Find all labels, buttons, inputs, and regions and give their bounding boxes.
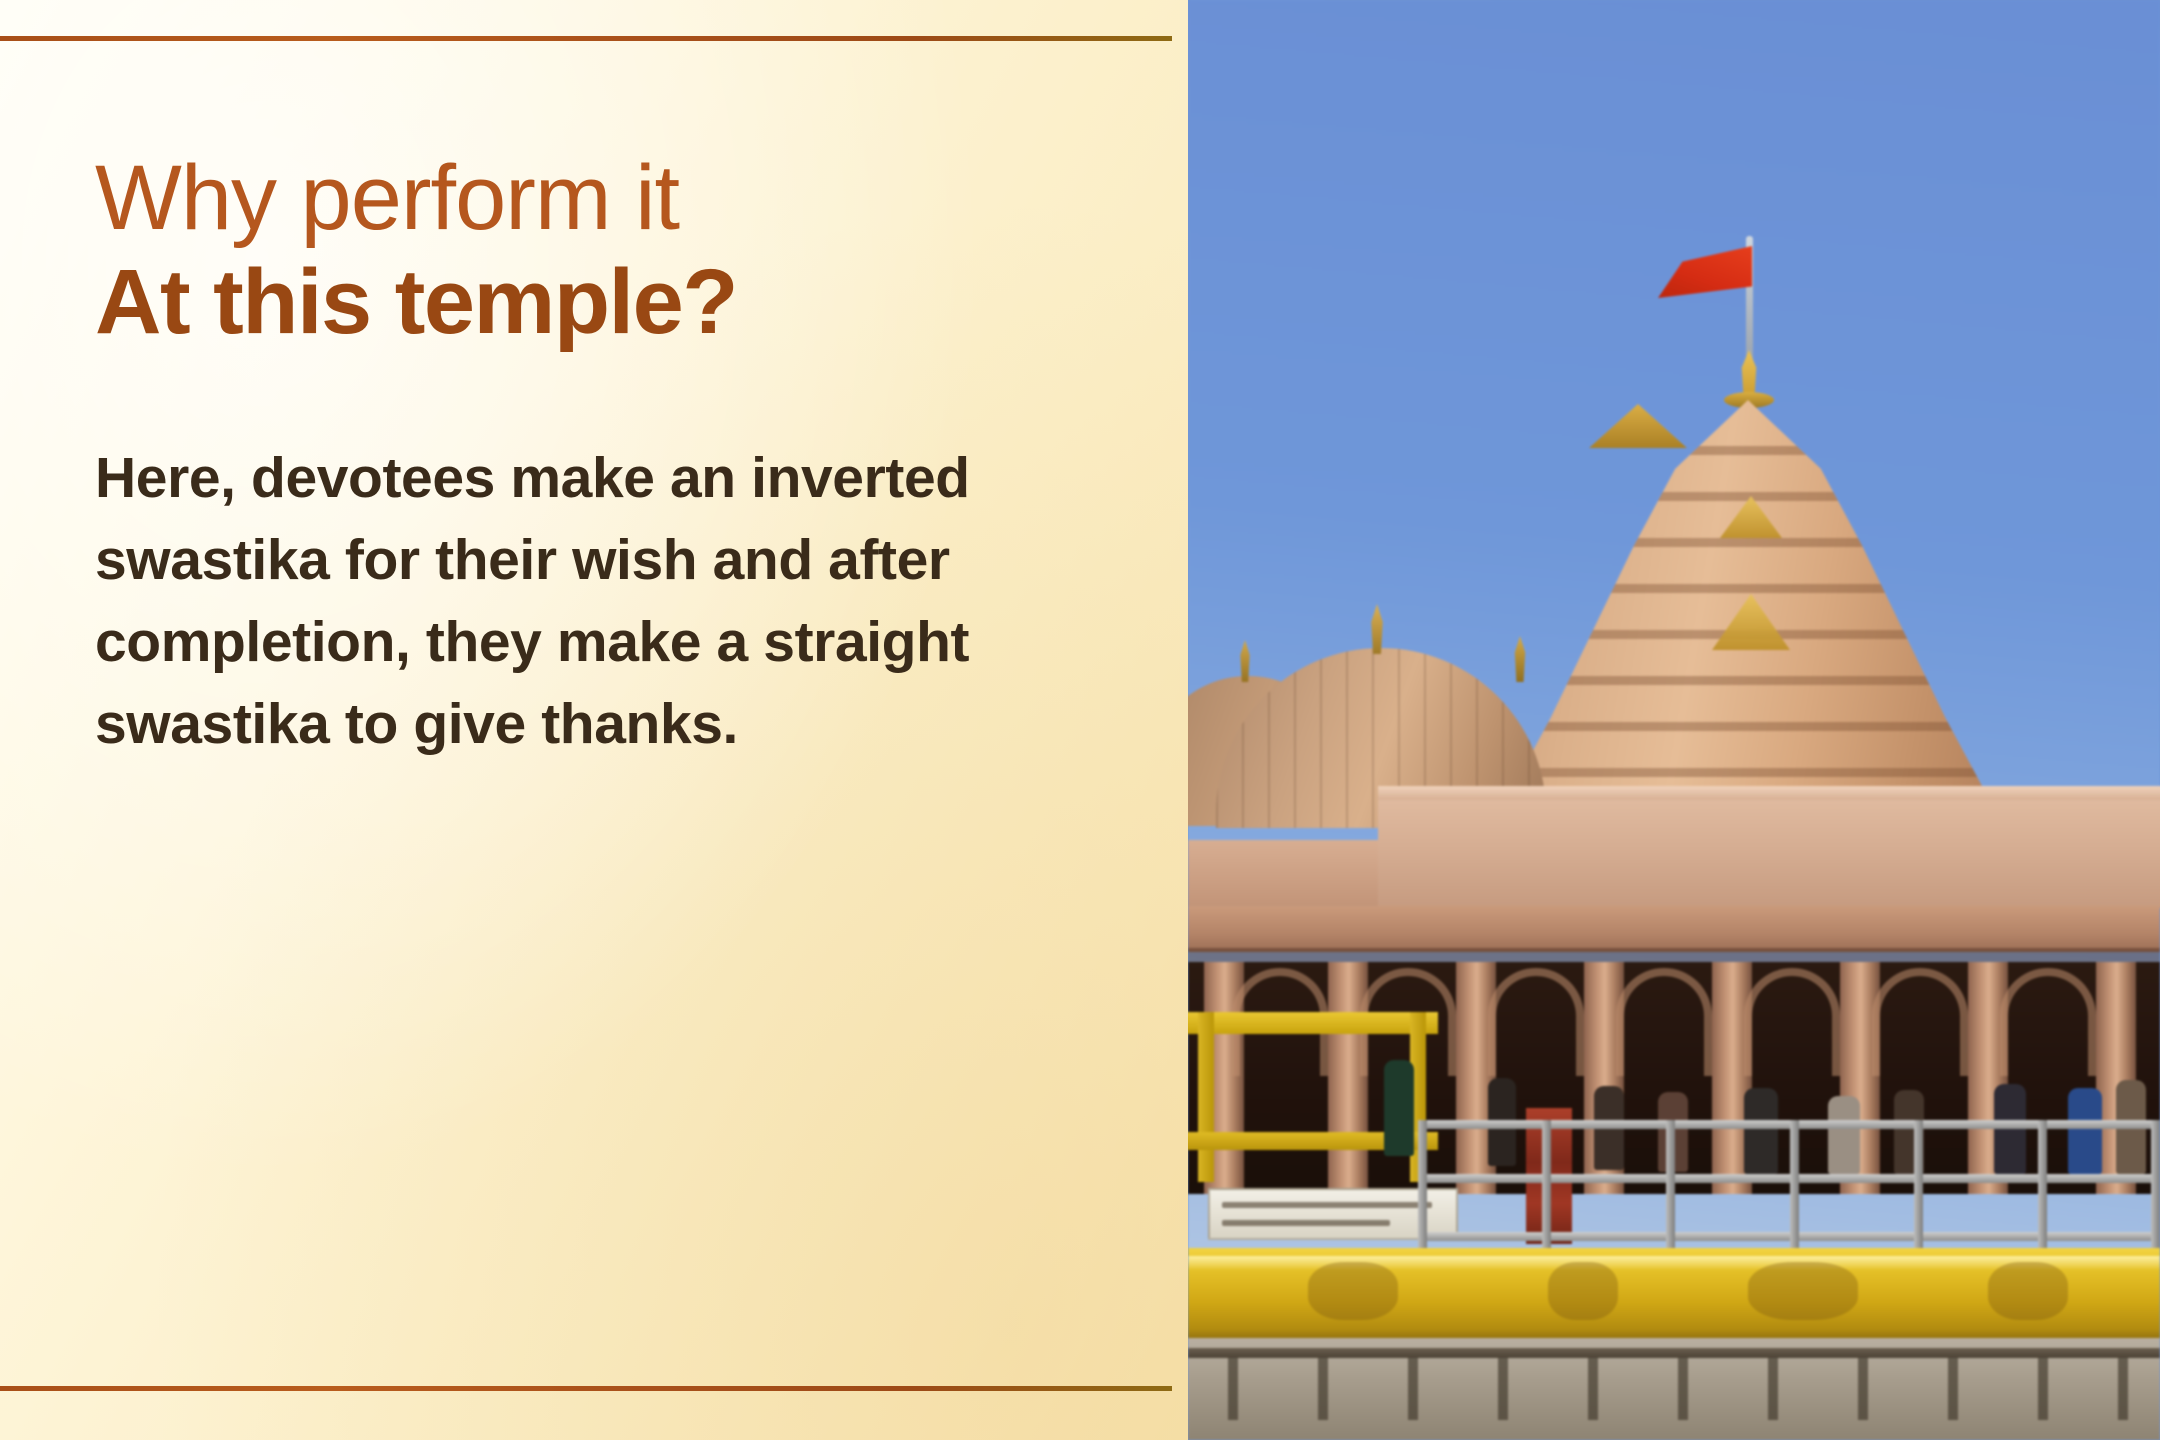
yellow-scaffold-rail bbox=[1188, 1012, 1438, 1034]
temple-photo bbox=[1188, 0, 2160, 1440]
photo-inner bbox=[1188, 0, 2160, 1440]
colonnade-pillar bbox=[1328, 962, 1368, 1194]
temple-parapet bbox=[1378, 788, 2160, 908]
divider-rule-bottom bbox=[0, 1386, 1172, 1391]
colonnade-arch bbox=[1488, 968, 1584, 1076]
temple-cornice bbox=[1188, 906, 2160, 952]
colonnade-arch bbox=[1616, 968, 1712, 1076]
text-panel: Why perform it At this temple? Here, dev… bbox=[0, 0, 1188, 1440]
body-paragraph: Here, devotees make an inverted swastika… bbox=[95, 437, 995, 765]
headline-line-1: Why perform it bbox=[95, 150, 1105, 248]
slide-canvas: Why perform it At this temple? Here, dev… bbox=[0, 0, 2160, 1440]
colonnade-arch bbox=[1872, 968, 1968, 1076]
scaffold-post bbox=[1198, 1012, 1214, 1182]
person-silhouette bbox=[1384, 1060, 1414, 1156]
parapet-lip bbox=[1378, 786, 2160, 800]
colonnade-arch bbox=[1744, 968, 1840, 1076]
colonnade-arch bbox=[2000, 968, 2096, 1076]
page-title: Why perform it At this temple? bbox=[95, 150, 1105, 351]
ground-rail bbox=[1188, 1348, 2160, 1358]
metal-railing bbox=[1418, 1120, 2160, 1250]
divider-rule-top bbox=[0, 36, 1172, 41]
text-content: Why perform it At this temple? Here, dev… bbox=[95, 150, 1105, 765]
headline-line-2: At this temple? bbox=[95, 254, 1105, 352]
